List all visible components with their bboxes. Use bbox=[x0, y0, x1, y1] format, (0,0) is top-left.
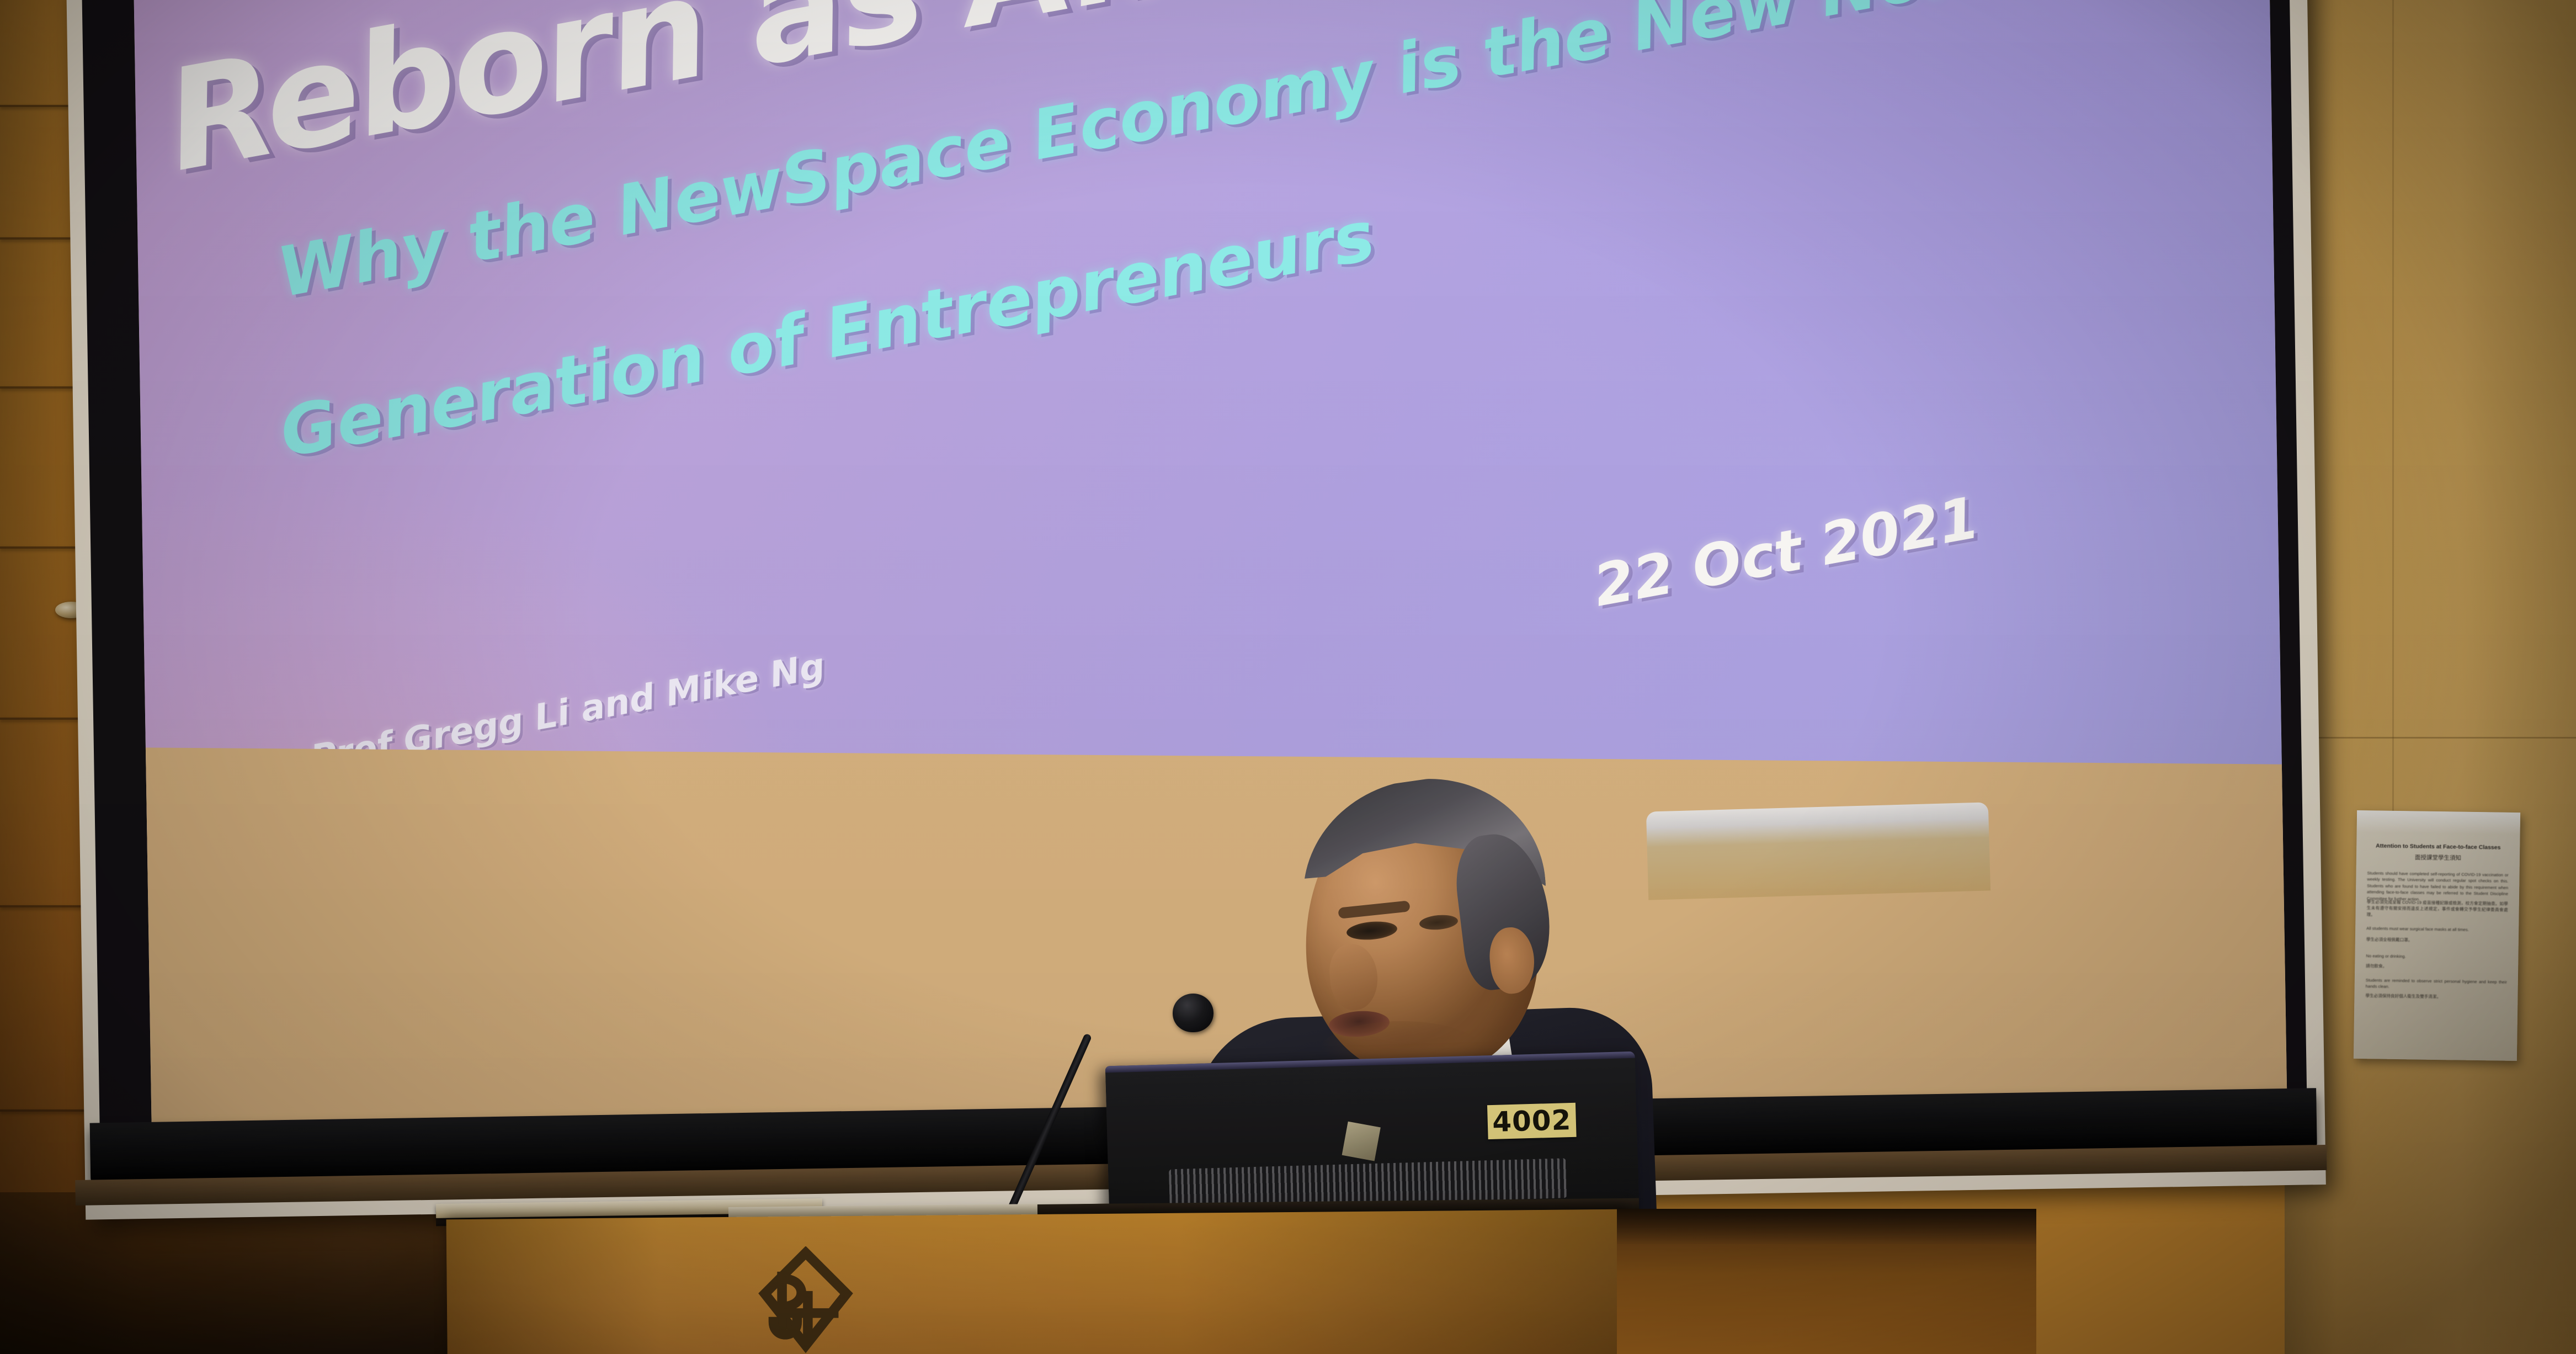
monitor-asset-tag: 4002 bbox=[1487, 1103, 1577, 1139]
monitor-sticker bbox=[1342, 1122, 1381, 1161]
wall-seam bbox=[2392, 0, 2394, 828]
notice-title-en: Attention to Students at Face-to-face Cl… bbox=[2369, 842, 2508, 851]
slide-text-block: Reborn as An Astropreneur Why the NewSpa… bbox=[134, 0, 2283, 871]
lecture-hall-photo: Reborn as An Astropreneur Why the NewSpa… bbox=[0, 0, 2576, 1354]
lectern-podium bbox=[446, 1209, 1629, 1354]
wall-notice-poster[interactable]: Attention to Students at Face-to-face Cl… bbox=[2354, 810, 2520, 1061]
microphone-head-icon[interactable] bbox=[1173, 994, 1214, 1032]
notice-paragraph: 請勿飲食。 bbox=[2366, 963, 2507, 971]
notice-paragraph: All students must wear surgical face mas… bbox=[2366, 925, 2508, 933]
plastic-sleeve-sheen bbox=[2357, 810, 2521, 835]
right-beige-wall bbox=[2285, 0, 2576, 1354]
white-panel-object bbox=[1646, 802, 1990, 900]
notice-paragraph: 學生必須保持良好個人衛生及雙手清潔。 bbox=[2365, 992, 2506, 1001]
podium-shadow bbox=[1617, 1209, 2036, 1244]
notice-paragraph: Students are reminded to observe strict … bbox=[2366, 977, 2507, 991]
wall-seam bbox=[2307, 737, 2576, 739]
notice-title-cn: 面授課堂學生須知 bbox=[2369, 852, 2508, 863]
notice-paragraph: No eating or drinking. bbox=[2366, 953, 2507, 961]
slide-date: 22 Oct 2021 bbox=[1589, 484, 1984, 619]
notice-paragraph: 學生必須完成呈報 COVID-19 疫苗接種記錄或檢測，校方會定期抽查。如學生未… bbox=[2366, 899, 2508, 920]
notice-paragraph: Students should have completed self-repo… bbox=[2367, 870, 2509, 904]
polyu-emblem-icon bbox=[739, 1246, 872, 1354]
notice-paragraph: 學生必須全程佩戴口罩。 bbox=[2366, 936, 2508, 944]
